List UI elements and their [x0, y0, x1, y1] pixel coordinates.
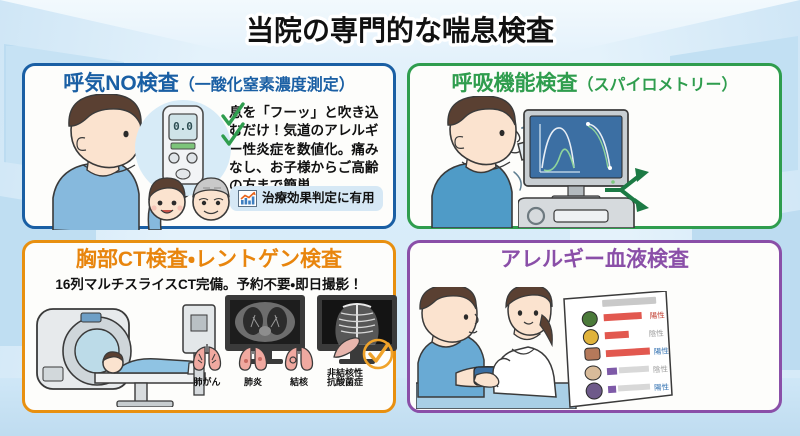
age-range-faces [145, 176, 231, 226]
orange-check-circle-icon [362, 337, 396, 371]
elderly-face-icon [193, 178, 229, 220]
finding-item: 結核 [277, 344, 321, 387]
child-face-icon [149, 178, 185, 220]
panel1-body-text: 息を「フーッ」と吹き込むだけ！気道のアレルギー性炎症を数値化。痛みなし、お子様か… [229, 104, 391, 196]
svg-text:陰性: 陰性 [653, 363, 669, 374]
finding-label: 結核 [277, 378, 321, 387]
finding-item: 非結核性 抗酸菌症 [323, 335, 367, 388]
svg-text:陽性: 陽性 [654, 381, 670, 392]
panel1-badge: 治療効果判定に有用 [230, 186, 383, 211]
bacteria-icon [328, 335, 362, 363]
panel3-findings-row: 肺がん 肺炎 結核 [185, 335, 367, 388]
panel3-subtitle: 16列マルチスライスCT完備。予約不要・即日撮影！ [25, 273, 393, 293]
panel-chest-ct-xray-test[interactable]: 胸部CT検査・レントゲン検査 16列マルチスライスCT完備。予約不要・即日撮影！ [22, 240, 396, 413]
finding-item: 肺がん [185, 344, 229, 387]
check-marks-icon [221, 102, 251, 148]
finding-item: 肺炎 [231, 344, 275, 387]
lung-icon [236, 344, 270, 372]
finding-label: 肺がん [185, 378, 229, 387]
panel4-title: アレルギー血液検査 [410, 249, 779, 271]
bar-chart-up-icon [238, 190, 257, 207]
finding-label: 非結核性 抗酸菌症 [323, 369, 367, 388]
panel-exhaled-no-test[interactable]: 呼気NO検査（一酸化窒素濃度測定） 息を「フーッ」と吹き込むだけ！気道のアレルギ… [22, 63, 396, 229]
panel1-badge-label: 治療効果判定に有用 [262, 191, 375, 205]
panel1-title-sub: （一酸化窒素濃度測定） [179, 77, 355, 94]
panel1-title-main: 呼気NO検査 [63, 72, 179, 95]
lung-icon [282, 344, 316, 372]
device-reading: 0.0 [173, 120, 193, 133]
page-title: 当院の専門的な喘息検査 [246, 14, 554, 46]
panel-spirometry-test[interactable]: 呼吸機能検査（スパイロメトリー） 息を大きく吸って、勢いよく吐き出す。肺活量や気… [407, 63, 782, 229]
page-title-svg: 当院の専門的な喘息検査 [0, 0, 800, 58]
panel2-title-sub: （スパイロメトリー） [577, 77, 737, 94]
panel1-title: 呼気NO検査（一酸化窒素濃度測定） [25, 73, 393, 95]
lung-icon [190, 344, 224, 372]
branch-arrows-icon [605, 166, 671, 214]
panel3-title: 胸部CT検査・レントゲン検査 [25, 249, 393, 271]
svg-text:陰性: 陰性 [648, 328, 664, 339]
allergy-result-sheet: 陽性 陰性 陽性 陰性 陽性 [558, 291, 674, 411]
panel-allergy-blood-test[interactable]: アレルギー血液検査 血液検査でアレルギー原因物質（ダニ、花粉、食物など）を特定（… [407, 240, 782, 413]
svg-text:陽性: 陽性 [649, 310, 665, 321]
panel2-title: 呼吸機能検査（スパイロメトリー） [410, 73, 779, 95]
svg-text:陽性: 陽性 [654, 345, 670, 356]
finding-label: 肺炎 [231, 378, 275, 387]
infographic-root: 当院の専門的な喘息検査 呼気NO検査（一酸化窒素濃度測定） 息を「フーッ」と吹き… [0, 0, 800, 436]
panel2-title-main: 呼吸機能検査 [451, 72, 577, 95]
